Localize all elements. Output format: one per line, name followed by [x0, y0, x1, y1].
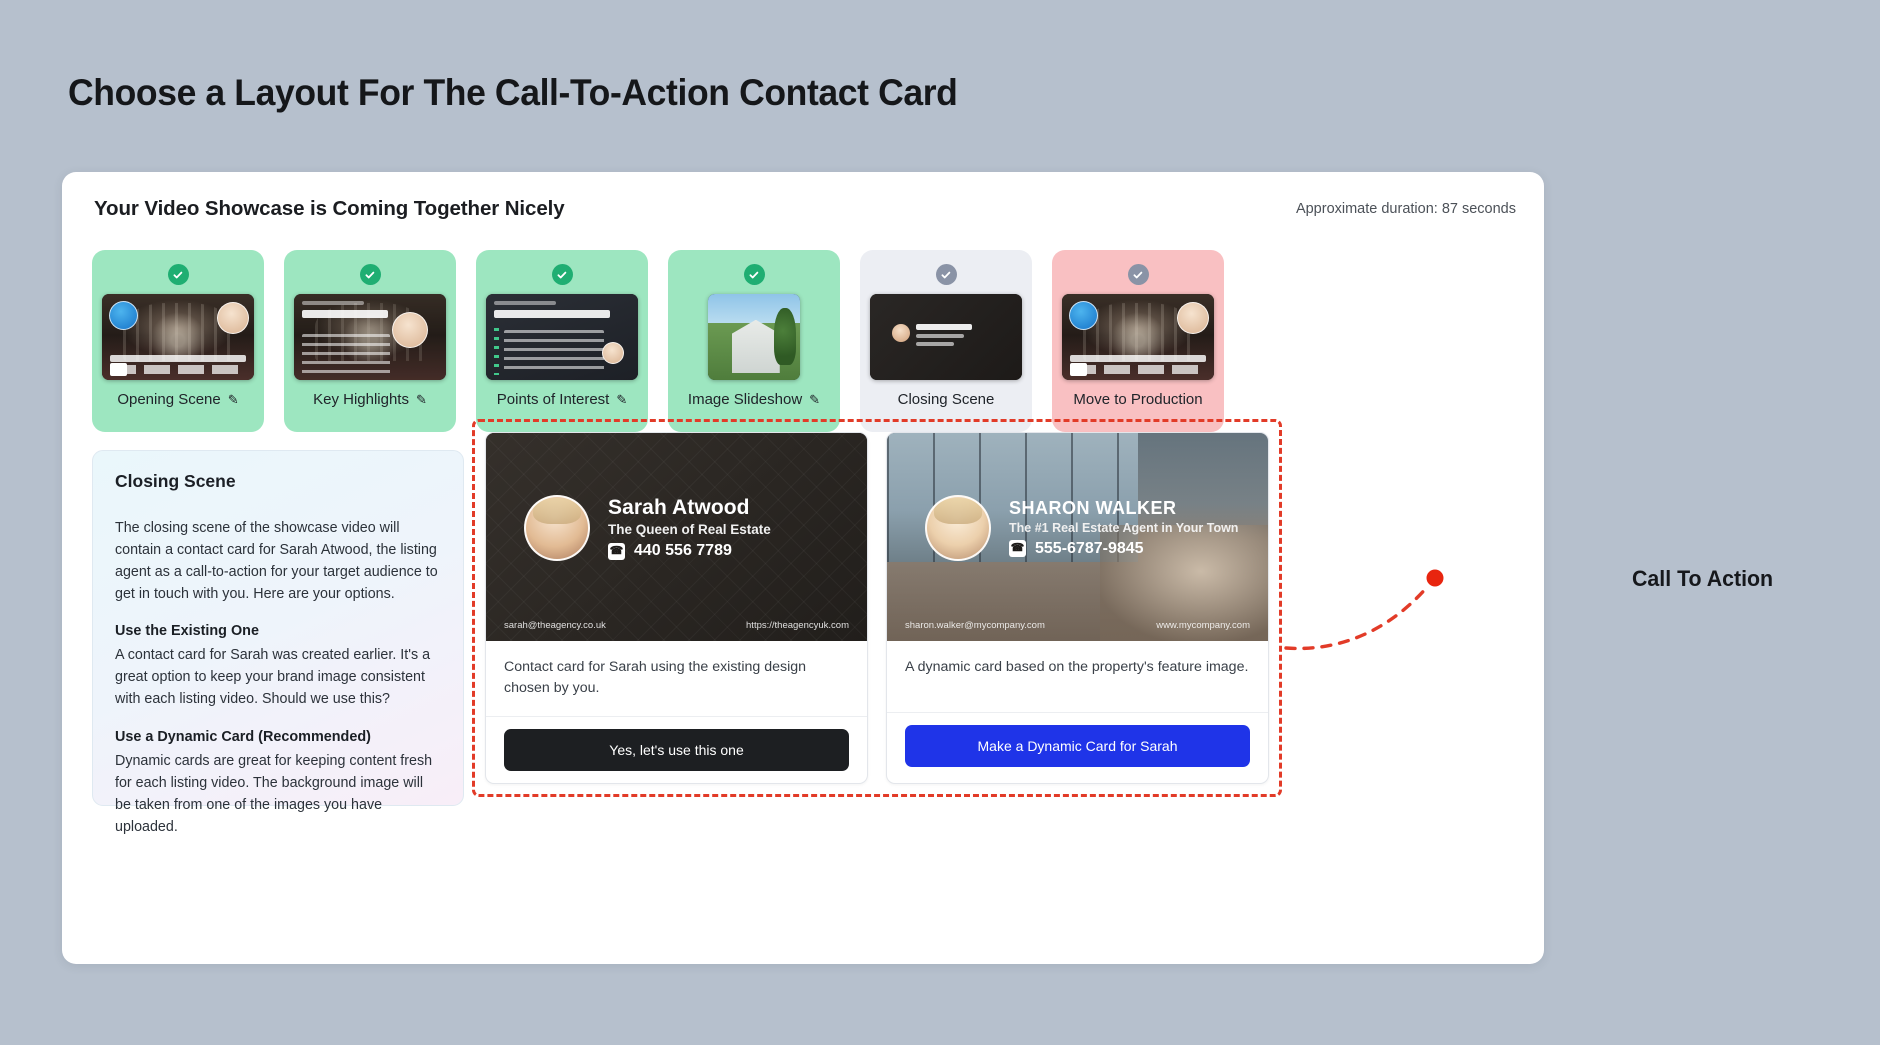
- check-icon: [360, 264, 381, 285]
- scene-card-opening-scene[interactable]: Opening Scene ✎: [92, 250, 264, 432]
- agent-face-icon: [217, 302, 249, 334]
- scene-label: Image Slideshow ✎: [688, 391, 820, 408]
- contact-card-person: Sarah Atwood The Queen of Real Estate ☎ …: [524, 495, 771, 561]
- annotation-dashed-line: [1286, 586, 1428, 648]
- option-button-wrap: Make a Dynamic Card for Sarah: [887, 713, 1268, 783]
- info-option1-body: A contact card for Sarah was created ear…: [115, 645, 441, 711]
- annotation-arrow: [1250, 560, 1670, 760]
- call-to-action-region: Sarah Atwood The Queen of Real Estate ☎ …: [472, 419, 1282, 797]
- option-description: Contact card for Sarah using the existin…: [486, 641, 867, 717]
- panel-header: Your Video Showcase is Coming Together N…: [94, 188, 1516, 230]
- phone-icon: ☎: [608, 543, 625, 560]
- check-icon: [744, 264, 765, 285]
- brand-badge-icon: [1069, 301, 1098, 330]
- scene-label-text: Move to Production: [1073, 391, 1202, 408]
- scene-thumbnail: [102, 294, 254, 380]
- scene-thumbnail: [870, 294, 1022, 380]
- contact-phone-number: 440 556 7789: [634, 542, 732, 560]
- annotation-dot: [1427, 570, 1444, 587]
- scene-strip: Opening Scene ✎ Key Highlights ✎: [92, 250, 1522, 432]
- contact-name: Sarah Atwood: [608, 496, 771, 520]
- contact-name: SHARON WALKER: [1009, 498, 1238, 519]
- phone-icon: ☎: [1009, 540, 1026, 557]
- info-heading: Closing Scene: [115, 471, 441, 492]
- agent-face-icon: [892, 324, 910, 342]
- scene-card-move-to-production[interactable]: Move to Production: [1052, 250, 1224, 432]
- scene-label: Key Highlights ✎: [313, 391, 427, 408]
- contact-email: sarah@theagency.co.uk: [504, 620, 606, 631]
- scene-thumbnail: [708, 294, 800, 380]
- contact-role: The #1 Real Estate Agent in Your Town: [1009, 521, 1238, 535]
- scene-label-text: Key Highlights: [313, 391, 409, 408]
- scene-card-closing-scene[interactable]: Closing Scene: [860, 250, 1032, 432]
- contact-card-footer: sharon.walker@mycompany.com www.mycompan…: [905, 620, 1250, 631]
- option-card-dynamic[interactable]: SHARON WALKER The #1 Real Estate Agent i…: [886, 432, 1269, 784]
- option-description: A dynamic card based on the property's f…: [887, 641, 1268, 713]
- scene-card-key-highlights[interactable]: Key Highlights ✎: [284, 250, 456, 432]
- info-option2-heading: Use a Dynamic Card (Recommended): [115, 729, 441, 745]
- contact-card-sarah: Sarah Atwood The Queen of Real Estate ☎ …: [486, 433, 867, 641]
- edit-pencil-icon[interactable]: ✎: [616, 393, 627, 406]
- contact-card-person: SHARON WALKER The #1 Real Estate Agent i…: [925, 495, 1238, 561]
- scene-label: Opening Scene ✎: [117, 391, 238, 408]
- check-icon: [168, 264, 189, 285]
- use-existing-card-button[interactable]: Yes, let's use this one: [504, 729, 849, 771]
- edit-pencil-icon[interactable]: ✎: [416, 393, 427, 406]
- scene-label-text: Image Slideshow: [688, 391, 802, 408]
- option-button-wrap: Yes, let's use this one: [486, 717, 867, 784]
- scene-label: Move to Production: [1073, 391, 1202, 408]
- contact-card-sharon: SHARON WALKER The #1 Real Estate Agent i…: [887, 433, 1268, 641]
- avatar: [925, 495, 991, 561]
- scene-thumbnail: [1062, 294, 1214, 380]
- scene-card-image-slideshow[interactable]: Image Slideshow ✎: [668, 250, 840, 432]
- make-dynamic-card-button[interactable]: Make a Dynamic Card for Sarah: [905, 725, 1250, 767]
- avatar: [524, 495, 590, 561]
- scene-card-points-of-interest[interactable]: Points of Interest ✎: [476, 250, 648, 432]
- scene-label-text: Points of Interest: [497, 391, 610, 408]
- contact-role: The Queen of Real Estate: [608, 522, 771, 537]
- edit-pencil-icon[interactable]: ✎: [228, 393, 239, 406]
- scene-label-text: Opening Scene: [117, 391, 220, 408]
- scene-thumbnail: [486, 294, 638, 380]
- info-panel: Closing Scene The closing scene of the s…: [92, 450, 464, 806]
- scene-label: Closing Scene: [898, 391, 995, 408]
- duration-label: Approximate duration: 87 seconds: [1296, 201, 1516, 217]
- info-intro: The closing scene of the showcase video …: [115, 518, 441, 605]
- check-icon: [936, 264, 957, 285]
- contact-website: https://theagencyuk.com: [746, 620, 849, 631]
- info-option1-heading: Use the Existing One: [115, 623, 441, 639]
- check-icon: [552, 264, 573, 285]
- contact-email: sharon.walker@mycompany.com: [905, 620, 1045, 631]
- option-card-existing[interactable]: Sarah Atwood The Queen of Real Estate ☎ …: [485, 432, 868, 784]
- panel-heading: Your Video Showcase is Coming Together N…: [94, 197, 565, 221]
- contact-phone: ☎ 440 556 7789: [608, 542, 771, 560]
- scene-label-text: Closing Scene: [898, 391, 995, 408]
- info-option2-body: Dynamic cards are great for keeping cont…: [115, 751, 441, 838]
- brand-badge-icon: [109, 301, 138, 330]
- scene-label: Points of Interest ✎: [497, 391, 627, 408]
- contact-phone-number: 555-6787-9845: [1035, 540, 1144, 558]
- contact-card-footer: sarah@theagency.co.uk https://theagencyu…: [504, 620, 849, 631]
- check-icon: [1128, 264, 1149, 285]
- scene-thumbnail: [294, 294, 446, 380]
- contact-website: www.mycompany.com: [1156, 620, 1250, 631]
- edit-pencil-icon[interactable]: ✎: [809, 393, 820, 406]
- contact-phone: ☎ 555-6787-9845: [1009, 540, 1238, 558]
- page-title: Choose a Layout For The Call-To-Action C…: [68, 72, 958, 114]
- agent-face-icon: [1177, 302, 1209, 334]
